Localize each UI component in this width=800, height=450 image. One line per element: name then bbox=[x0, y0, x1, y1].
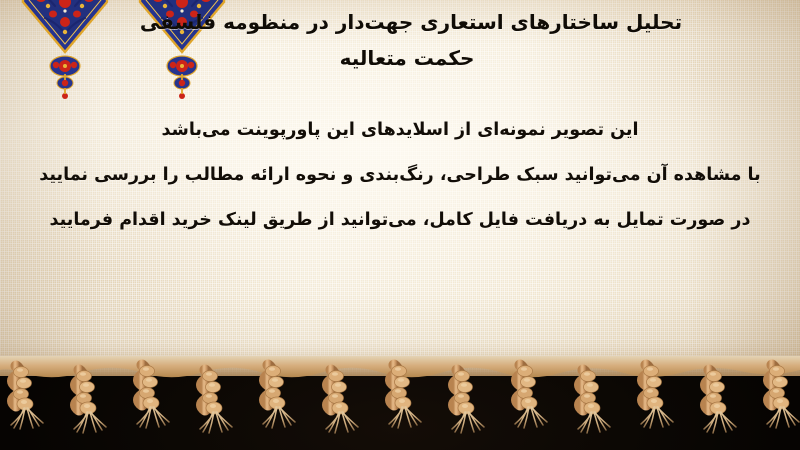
body-text: این تصویر نمونه‌ای از اسلایدهای این پاور… bbox=[0, 108, 800, 243]
carpet-tassel-fringe-icon bbox=[0, 356, 800, 450]
body-line-1: این تصویر نمونه‌ای از اسلایدهای این پاور… bbox=[0, 108, 800, 153]
tassel bbox=[74, 370, 106, 434]
page-title: تحلیل ساختارهای استعاری جهت‌دار در منظوم… bbox=[0, 4, 800, 76]
title-line-1: تحلیل ساختارهای استعاری جهت‌دار در منظوم… bbox=[22, 4, 800, 40]
title-line-2: حکمت متعالیه bbox=[22, 40, 800, 76]
powerpoint-slide: تحلیل ساختارهای استعاری جهت‌دار در منظوم… bbox=[0, 0, 800, 450]
body-line-2: با مشاهده آن می‌توانید سبک طراحی، رنگ‌بن… bbox=[0, 153, 800, 198]
carpet-tassel-fringe bbox=[0, 356, 800, 450]
tassel bbox=[767, 365, 799, 429]
tassel bbox=[200, 370, 232, 434]
body-line-3: در صورت تمایل به دریافت فایل کامل، می‌تو… bbox=[0, 198, 800, 243]
tassel bbox=[452, 370, 484, 434]
tassel bbox=[326, 370, 358, 434]
tassel bbox=[578, 370, 610, 434]
tassel bbox=[704, 370, 736, 434]
